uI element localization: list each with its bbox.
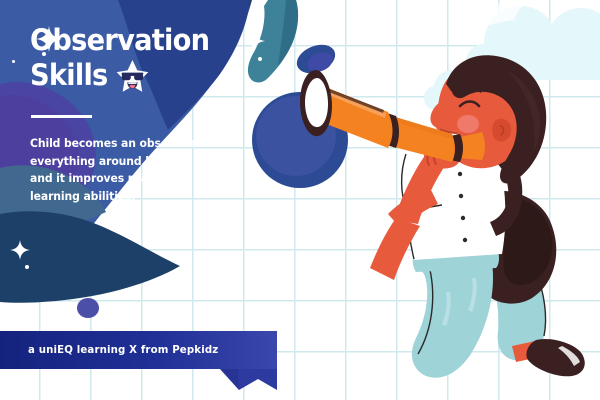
title-line-2-row: Skills <box>30 57 274 94</box>
footer-ribbon-label: a uniEQ learning X from Pepkidz <box>28 344 218 356</box>
title-line-1: Observation <box>30 24 274 57</box>
sparkle-dot-4 <box>25 265 29 269</box>
boy-with-telescope-illustration <box>300 40 600 400</box>
description-line-1: Child becomes an observant of <box>30 135 277 153</box>
star-sunglasses-icon <box>116 59 150 94</box>
description-line-2: everything around him/her <box>30 153 277 171</box>
description-line-3: and it improves practical <box>30 170 277 188</box>
sparkle-icon-3 <box>10 240 30 260</box>
sparkle-dot-2 <box>12 60 15 63</box>
footer-ribbon: a uniEQ learning X from Pepkidz <box>0 331 290 391</box>
title-line-2: Skills <box>30 59 108 92</box>
poster-card: Observation Skills <box>0 0 600 400</box>
blob-pebble-bottom <box>77 298 99 318</box>
page-title: Observation Skills <box>30 24 274 94</box>
text-content-block: Observation Skills <box>30 24 290 205</box>
description-line-4: learning abilities. <box>30 188 277 206</box>
title-divider <box>31 115 92 118</box>
description-text: Child becomes an observant of everything… <box>30 135 277 205</box>
